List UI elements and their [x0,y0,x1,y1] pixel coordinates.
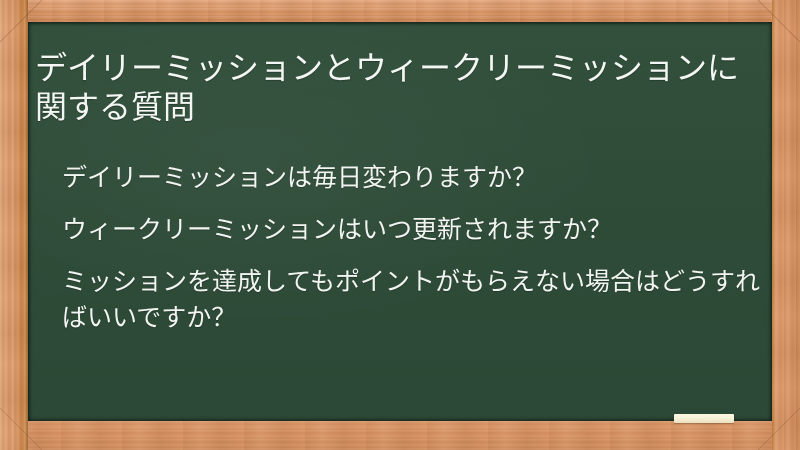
list-item: デイリーミッションは毎日変わりますか？ [62,160,762,196]
page-title: デイリーミッションとウィークリーミッションに関する質問 [35,49,761,127]
frame-rail-left [0,0,28,450]
frame-rail-right [772,0,800,450]
chalk-stick [674,414,734,423]
frame-rail-top [0,0,800,22]
list-item: ミッションを達成してもポイントがもらえない場合はどうすればいいですか？ [62,264,762,336]
chalkboard-surface: デイリーミッションとウィークリーミッションに関する質問 デイリーミッションは毎日… [28,22,772,421]
list-item: ウィークリーミッションはいつ更新されますか？ [62,212,762,248]
chalkboard-content: デイリーミッションとウィークリーミッションに関する質問 デイリーミッションは毎日… [28,22,772,421]
chalkboard-slide: デイリーミッションとウィークリーミッションに関する質問 デイリーミッションは毎日… [0,0,800,450]
frame-rail-bottom-ledge [0,421,800,450]
question-list: デイリーミッションは毎日変わりますか？ ウィークリーミッションはいつ更新されます… [62,160,762,336]
